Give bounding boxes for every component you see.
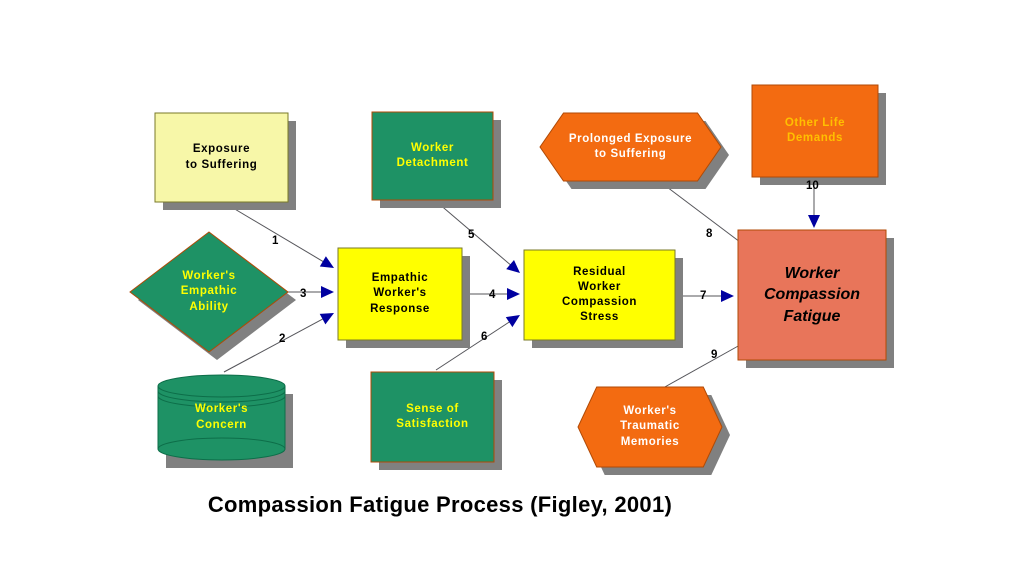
node-workers-traumatic-memories[interactable] (578, 387, 730, 475)
node-worker-detachment[interactable] (372, 112, 501, 208)
node-sense-of-satisfaction[interactable] (371, 372, 502, 470)
diagram-canvas: Exposure to SufferingWorker's Empathic A… (0, 0, 1024, 576)
diagram-title: Compassion Fatigue Process (Figley, 2001… (0, 492, 880, 518)
shapes-layer (0, 0, 1024, 576)
node-other-life-demands[interactable] (752, 85, 886, 185)
node-workers-empathic-ability[interactable] (130, 232, 296, 360)
node-prolonged-exposure-to-suffering[interactable] (540, 113, 729, 189)
node-workers-concern[interactable] (158, 375, 293, 468)
node-exposure-to-suffering[interactable] (155, 113, 296, 210)
node-residual-worker-compassion-stress[interactable] (524, 250, 683, 348)
node-empathic-workers-response[interactable] (338, 248, 470, 348)
node-worker-compassion-fatigue[interactable] (738, 230, 894, 368)
